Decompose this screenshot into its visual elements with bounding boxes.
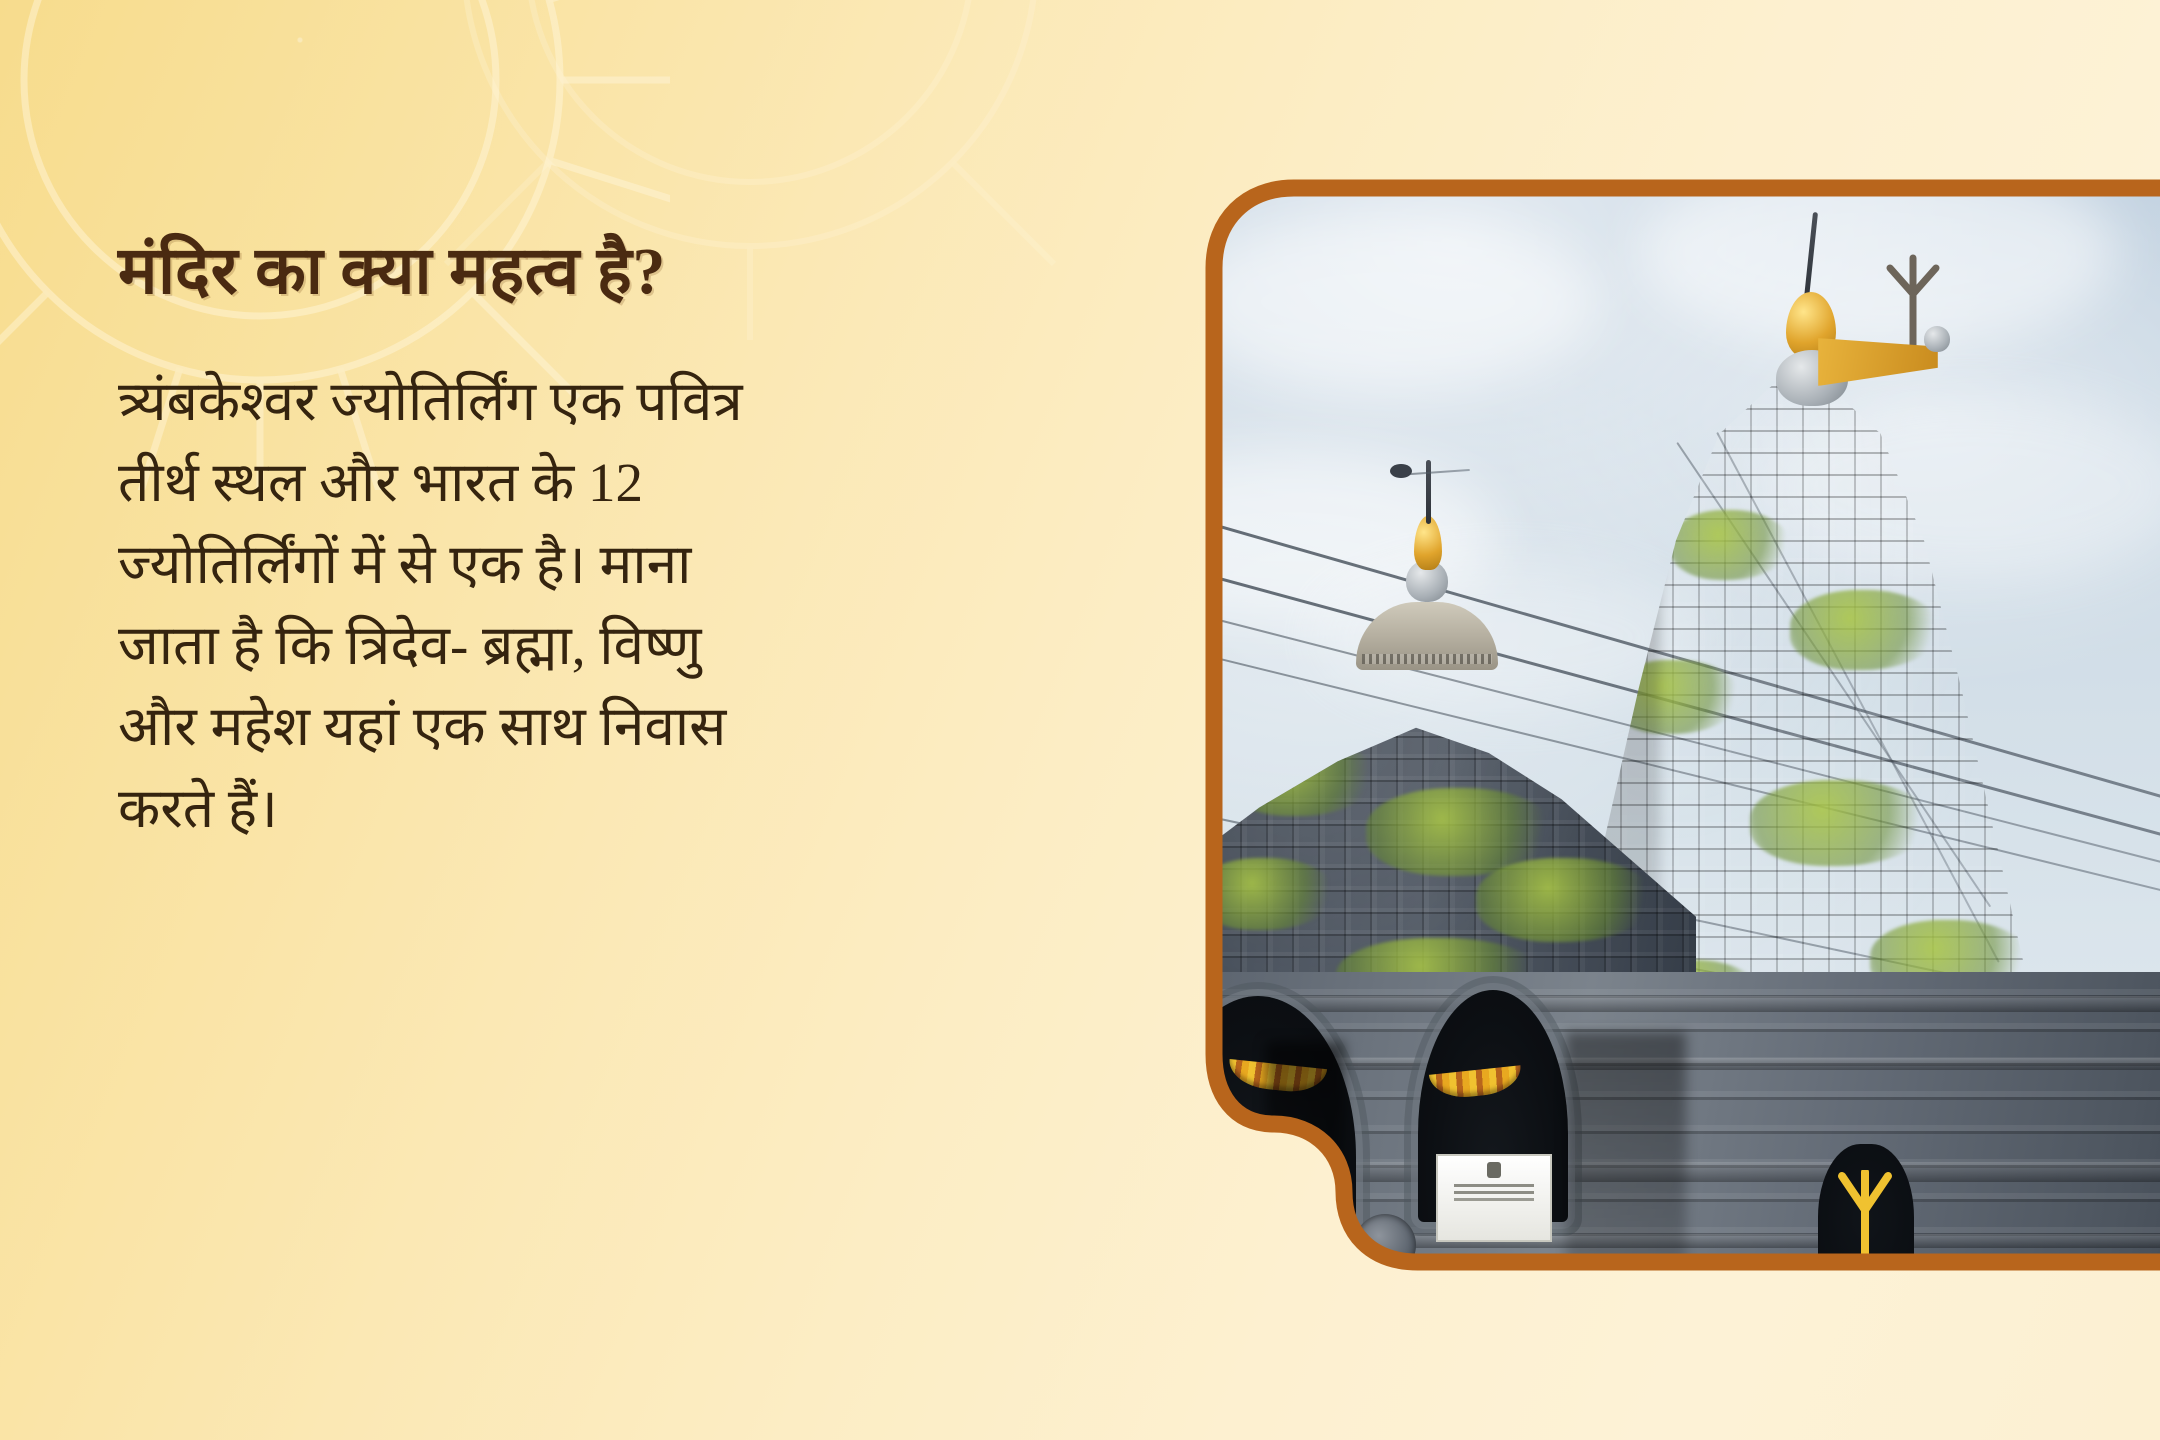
visitor-far-right <box>1998 1300 2050 1358</box>
body-line: और महेश यहां एक साथ निवास <box>118 686 998 767</box>
temple-scene <box>1118 92 2160 1358</box>
carved-medallion <box>1354 1214 1416 1276</box>
visitor-head <box>1170 1242 1192 1266</box>
body-line: करते हैं। <box>118 768 998 849</box>
dome-bird <box>1390 464 1412 478</box>
visitor-legs <box>1164 1320 1194 1354</box>
visitor-checkered-shirt <box>1152 1242 1206 1352</box>
visitor-head <box>1274 1320 1300 1346</box>
flag-knob <box>1924 326 1950 352</box>
sign-board <box>1436 1154 1552 1242</box>
visitor-torso <box>1254 1340 1324 1358</box>
info-card: मंदिर का क्या महत्व है? त्र्यंबकेश्वर ज्… <box>0 0 2160 1440</box>
temple-photo-frame <box>1118 92 2160 1358</box>
body-line: त्र्यंबकेश्वर ज्योतिर्लिंग एक पवित्र <box>118 361 998 442</box>
body-line: जाता है कि त्रिदेव- ब्रह्मा, विष्णु <box>118 605 998 686</box>
mini-trishul-icon <box>1834 1170 1896 1260</box>
visitor-torso <box>2006 1318 2042 1358</box>
pillar-shadow <box>1566 1032 1686 1358</box>
visitor-torso <box>1156 1264 1204 1322</box>
text-column: मंदिर का क्या महत्व है? त्र्यंबकेश्वर ज्… <box>118 235 1018 849</box>
cornice-band <box>1118 1302 2160 1320</box>
temple-photo <box>1118 92 2160 1358</box>
visitor-head <box>2014 1300 2034 1320</box>
body-paragraph: त्र्यंबकेश्वर ज्योतिर्लिंग एक पवित्र तीर… <box>118 361 998 849</box>
page-title: मंदिर का क्या महत्व है? <box>118 235 1018 309</box>
visitor-pink-saree <box>1218 1320 1328 1358</box>
body-line: ज्योतिर्लिंगों में से एक है। माना <box>118 524 998 605</box>
dome-kalash-rod <box>1426 460 1431 524</box>
yellow-barricade <box>1265 1332 1447 1358</box>
sign-text-lines <box>1454 1184 1535 1187</box>
body-line: तीर्थ स्थल और भारत के 12 <box>118 442 998 523</box>
visitor-companion <box>1222 1346 1266 1358</box>
cloud <box>1178 212 1598 392</box>
pillar-shadow <box>1266 1042 1344 1342</box>
sign-emblem-icon <box>1487 1162 1501 1178</box>
